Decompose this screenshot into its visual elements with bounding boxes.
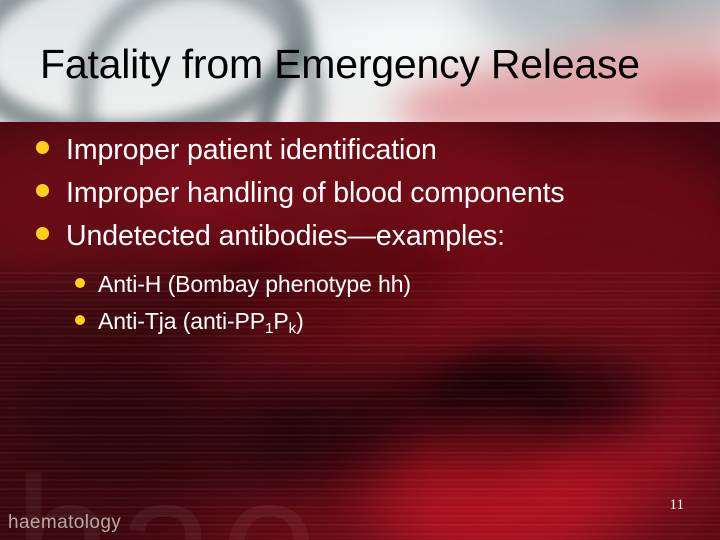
bullet-dot-icon — [36, 184, 49, 197]
sub-bullet-item-2-part-a: Anti-Tja (anti-PP — [98, 308, 265, 334]
bullet-item-2: Improper handling of blood components — [36, 176, 565, 210]
bullet-dot-icon — [36, 141, 49, 154]
bullet-item-1: Improper patient identification — [36, 133, 437, 167]
bullet-item-1-label: Improper patient identification — [66, 133, 437, 167]
sub-bullet-item-2: Anti-Tja (anti-PP1Pk) — [75, 307, 304, 339]
sub-bullet-item-2-part-c: ) — [296, 308, 304, 334]
bullet-item-3: Undetected antibodies—examples: — [36, 219, 505, 253]
sub-bullet-item-2-subscript-k: k — [289, 320, 297, 337]
page-number: 11 — [670, 497, 684, 514]
bullet-dot-icon — [75, 315, 85, 325]
bullet-item-2-label: Improper handling of blood components — [66, 176, 565, 210]
sub-bullet-item-1: Anti-H (Bombay phenotype hh) — [75, 270, 411, 298]
presentation-slide: Fatality from Emergency Release hae Impr… — [0, 0, 720, 540]
bullet-dot-icon — [75, 278, 85, 288]
sub-bullet-item-2-part-b: P — [273, 308, 288, 334]
sub-bullet-item-2-subscript-1: 1 — [265, 320, 273, 337]
sub-bullet-item-1-label: Anti-H (Bombay phenotype hh) — [98, 270, 411, 298]
slide-title: Fatality from Emergency Release — [40, 40, 700, 88]
sub-bullet-item-2-label: Anti-Tja (anti-PP1Pk) — [98, 307, 304, 339]
bullet-dot-icon — [36, 227, 49, 240]
bullet-item-3-label: Undetected antibodies—examples: — [66, 219, 505, 253]
footer-brand-label: haematology — [8, 512, 121, 534]
slide-body-content: Improper patient identification Improper… — [0, 122, 720, 540]
